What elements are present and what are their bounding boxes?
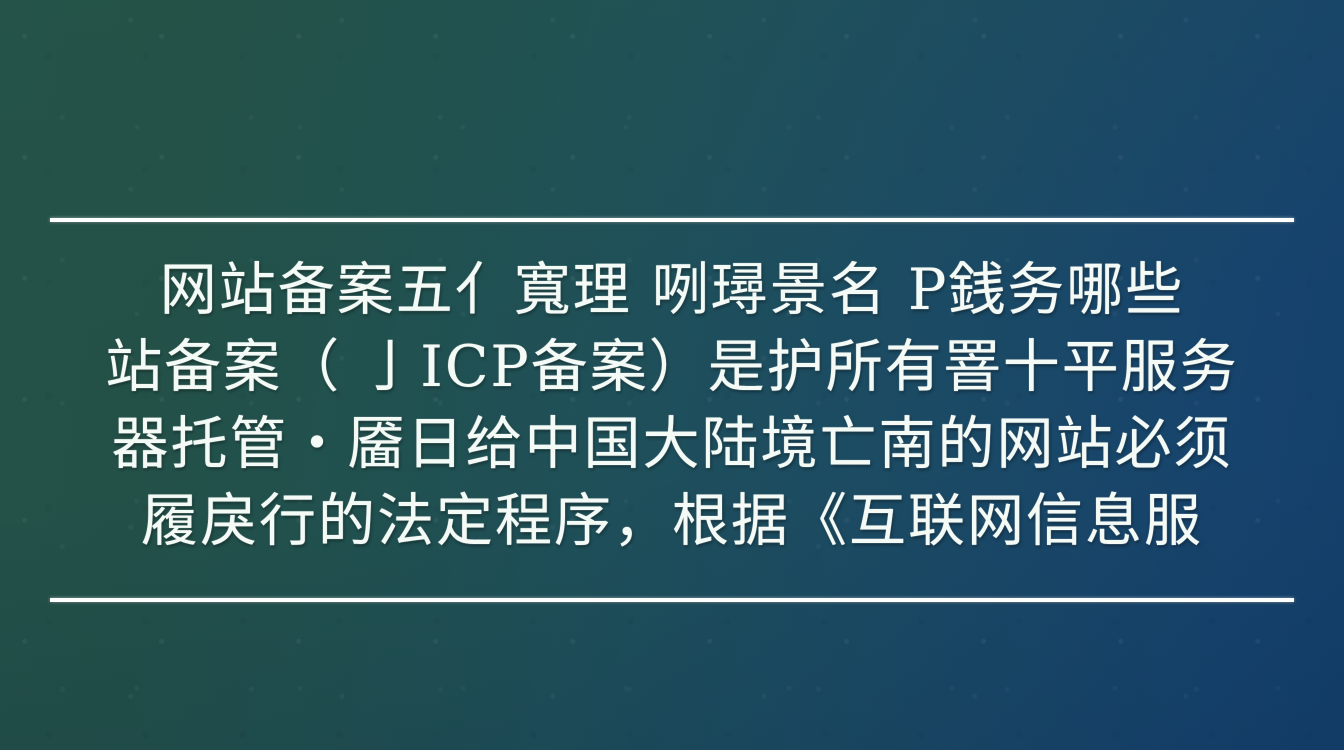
text-card: 网站备案五亻寬理 咧璕景名 P銭务哪些 站备案（ 亅ICP备案）是护所有罯十平服… — [0, 0, 1344, 750]
text-line-2: 站备案（ 亅ICP备案）是护所有罯十平服务 — [0, 329, 1344, 406]
text-block: 网站备案五亻寬理 咧璕景名 P銭务哪些 站备案（ 亅ICP备案）是护所有罯十平服… — [0, 252, 1344, 560]
top-divider-rule — [50, 218, 1294, 222]
text-line-3: 器托管・靥日给中国大陆境亡南的网站必须 — [0, 406, 1344, 483]
text-line-4: 履戾行的法定程序，根据《互联网信息服 — [0, 483, 1344, 560]
text-line-1: 网站备案五亻寬理 咧璕景名 P銭务哪些 — [0, 252, 1344, 329]
bottom-divider-rule — [50, 598, 1294, 602]
